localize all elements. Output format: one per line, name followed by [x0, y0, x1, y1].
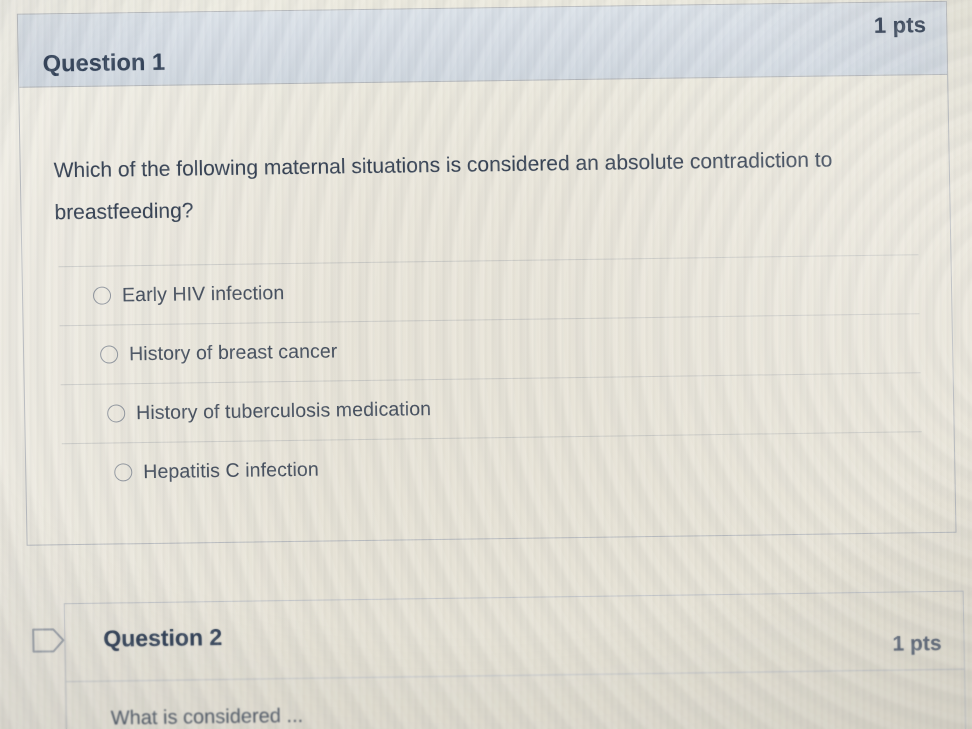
- question-card-1: Question 1 1 pts Which of the following …: [17, 1, 957, 546]
- question-2-points: 1 pts: [892, 632, 941, 657]
- question-2-stem: What is considered ...: [111, 705, 304, 729]
- radio-button-icon[interactable]: [93, 287, 111, 305]
- question-1-title: Question 1: [43, 49, 166, 78]
- question-1-stem: Which of the following maternal situatio…: [53, 138, 904, 234]
- radio-button-icon[interactable]: [114, 463, 132, 481]
- question-2-header: Question 2 1 pts: [65, 592, 964, 683]
- answer-option-label: Hepatitis C infection: [143, 458, 319, 483]
- answer-option-label: Early HIV infection: [122, 282, 285, 307]
- radio-button-icon[interactable]: [100, 345, 118, 363]
- question-card-2: Question 2 1 pts What is considered ...: [64, 591, 966, 729]
- question-1-points: 1 pts: [874, 12, 927, 39]
- quiz-screenshot: Question 1 1 pts Which of the following …: [0, 0, 972, 729]
- question-1-body: Which of the following maternal situatio…: [19, 76, 955, 545]
- question-2-title: Question 2: [103, 624, 222, 653]
- radio-button-icon[interactable]: [107, 404, 125, 422]
- quiz-content: Question 1 1 pts Which of the following …: [0, 0, 972, 729]
- question-1-answer-list: Early HIV infection History of breast ca…: [58, 254, 922, 502]
- question-1-header: Question 1 1 pts: [18, 2, 947, 88]
- answer-option-label: History of breast cancer: [129, 340, 338, 366]
- flag-bookmark-icon[interactable]: [31, 625, 66, 655]
- answer-option-label: History of tuberculosis medication: [136, 398, 431, 425]
- answer-option[interactable]: Hepatitis C infection: [62, 431, 923, 502]
